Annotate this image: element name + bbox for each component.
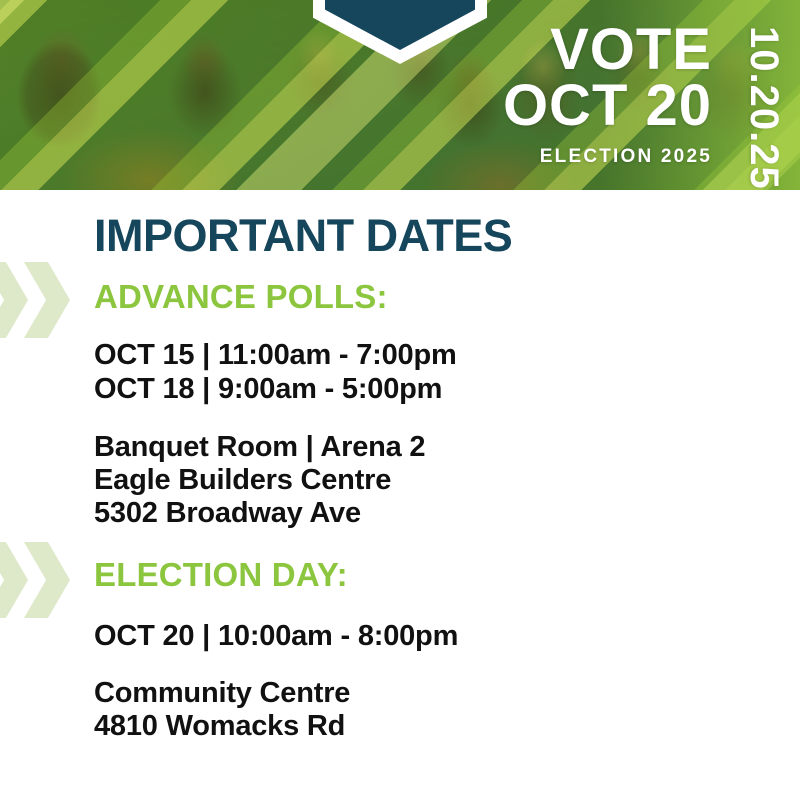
- dates-content: IMPORTANT DATES ADVANCE POLLS: OCT 15 | …: [0, 190, 800, 800]
- section-heading-election-day: ELECTION DAY:: [94, 556, 348, 594]
- chevron-icon: [24, 262, 70, 338]
- header-banner: VOTE OCT 20 ELECTION 2025 10.20.25: [0, 0, 800, 190]
- vote-line-2: OCT 20: [503, 78, 712, 134]
- election-day-venue-line-2: 4810 Womacks Rd: [94, 710, 345, 743]
- double-chevron-icon-advance: [0, 262, 78, 338]
- advance-poll-date-2: OCT 18 | 9:00am - 5:00pm: [94, 373, 442, 406]
- page-title: IMPORTANT DATES: [94, 210, 512, 262]
- election-day-date-1: OCT 20 | 10:00am - 8:00pm: [94, 620, 458, 653]
- section-heading-advance-polls: ADVANCE POLLS:: [94, 278, 388, 316]
- advance-poll-venue-line-1: Banquet Room | Arena 2: [94, 431, 425, 464]
- advance-poll-venue-line-3: 5302 Broadway Ave: [94, 497, 361, 530]
- advance-poll-date-1: OCT 15 | 11:00am - 7:00pm: [94, 339, 457, 372]
- chevron-icon: [0, 542, 28, 618]
- election-day-venue-line-1: Community Centre: [94, 677, 350, 710]
- vertical-date-label: 10.20.25: [744, 26, 784, 190]
- chevron-icon: [0, 262, 28, 338]
- vote-callout: VOTE OCT 20 ELECTION 2025: [503, 22, 712, 168]
- election-year-subtitle: ELECTION 2025: [503, 146, 712, 168]
- chevron-icon: [24, 542, 70, 618]
- advance-poll-venue-line-2: Eagle Builders Centre: [94, 464, 391, 497]
- election-dates-poster: VOTE OCT 20 ELECTION 2025 10.20.25 IMPOR…: [0, 0, 800, 800]
- vote-line-1: VOTE: [503, 22, 712, 78]
- double-chevron-icon-election-day: [0, 542, 78, 618]
